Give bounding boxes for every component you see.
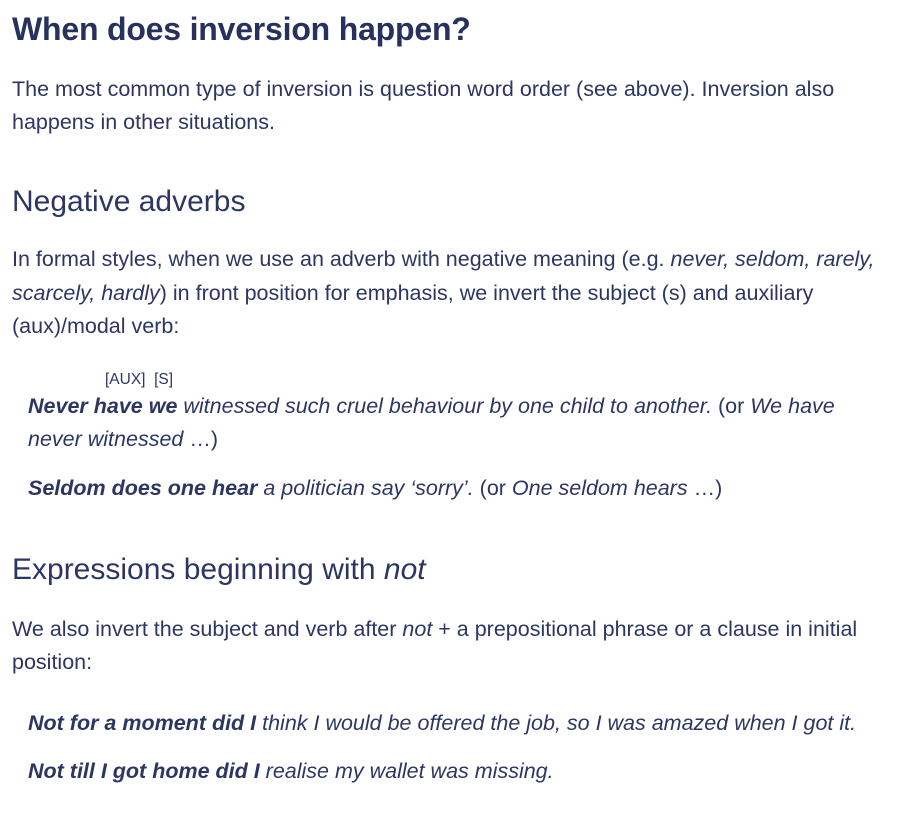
spacer xyxy=(12,219,893,243)
tag-aux: [AUX] xyxy=(105,371,145,388)
example-remainder: realise my wallet was missing. xyxy=(260,759,554,783)
paragraph-text-part1: In formal styles, when we use an adverb … xyxy=(12,247,671,271)
page-title: When does inversion happen? xyxy=(12,0,893,48)
example-inverted-phrase: Not for a moment did I xyxy=(28,711,256,735)
tag-gap xyxy=(145,371,154,388)
article-page: When does inversion happen? The most com… xyxy=(0,0,905,789)
spacer xyxy=(12,48,893,73)
example-ellipsis-close: …) xyxy=(183,427,218,451)
example-paren-open: (or xyxy=(712,394,750,418)
paragraph-emphasis-not: not xyxy=(402,617,432,641)
examples-negative-adverbs: [AUX] [S] Never have we witnessed such c… xyxy=(12,370,893,506)
example-sentence: Not till I got home did I realise my wal… xyxy=(28,755,893,789)
spacer xyxy=(12,140,893,185)
example-alternative: One seldom hears xyxy=(512,476,688,500)
spacer xyxy=(12,505,893,553)
example-sentence: Never have we witnessed such cruel behav… xyxy=(28,390,893,457)
grammar-tag-row: [AUX] [S] xyxy=(28,370,893,390)
example-inverted-phrase: Never have we xyxy=(28,394,177,418)
example-remainder: witnessed such cruel behaviour by one ch… xyxy=(177,394,712,418)
tag-subject: [S] xyxy=(154,371,173,388)
example-ellipsis-close: …) xyxy=(688,476,723,500)
negative-adverbs-paragraph: In formal styles, when we use an adverb … xyxy=(12,243,893,344)
section-heading-not-expressions: Expressions beginning with not xyxy=(12,553,893,588)
example-remainder: think I would be offered the job, so I w… xyxy=(256,711,856,735)
spacer xyxy=(12,680,893,707)
section-heading-negative-adverbs: Negative adverbs xyxy=(12,185,893,220)
spacer xyxy=(12,588,893,613)
example-sentence: Not for a moment did I think I would be … xyxy=(28,707,893,741)
intro-paragraph: The most common type of inversion is que… xyxy=(12,73,893,140)
example-inverted-phrase: Seldom does one hear xyxy=(28,476,257,500)
spacer xyxy=(12,344,893,370)
example-inverted-phrase: Not till I got home did I xyxy=(28,759,260,783)
examples-not-expressions: Not for a moment did I think I would be … xyxy=(12,707,893,789)
example-sentence: Seldom does one hear a politician say ‘s… xyxy=(28,472,893,506)
section-heading-emphasis: not xyxy=(384,553,426,586)
paragraph-text-part1: We also invert the subject and verb afte… xyxy=(12,617,402,641)
example-remainder: a politician say ‘sorry’. xyxy=(257,476,473,500)
not-expressions-paragraph: We also invert the subject and verb afte… xyxy=(12,613,893,680)
section-heading-text: Expressions beginning with xyxy=(12,553,384,586)
example-paren-open: (or xyxy=(474,476,512,500)
